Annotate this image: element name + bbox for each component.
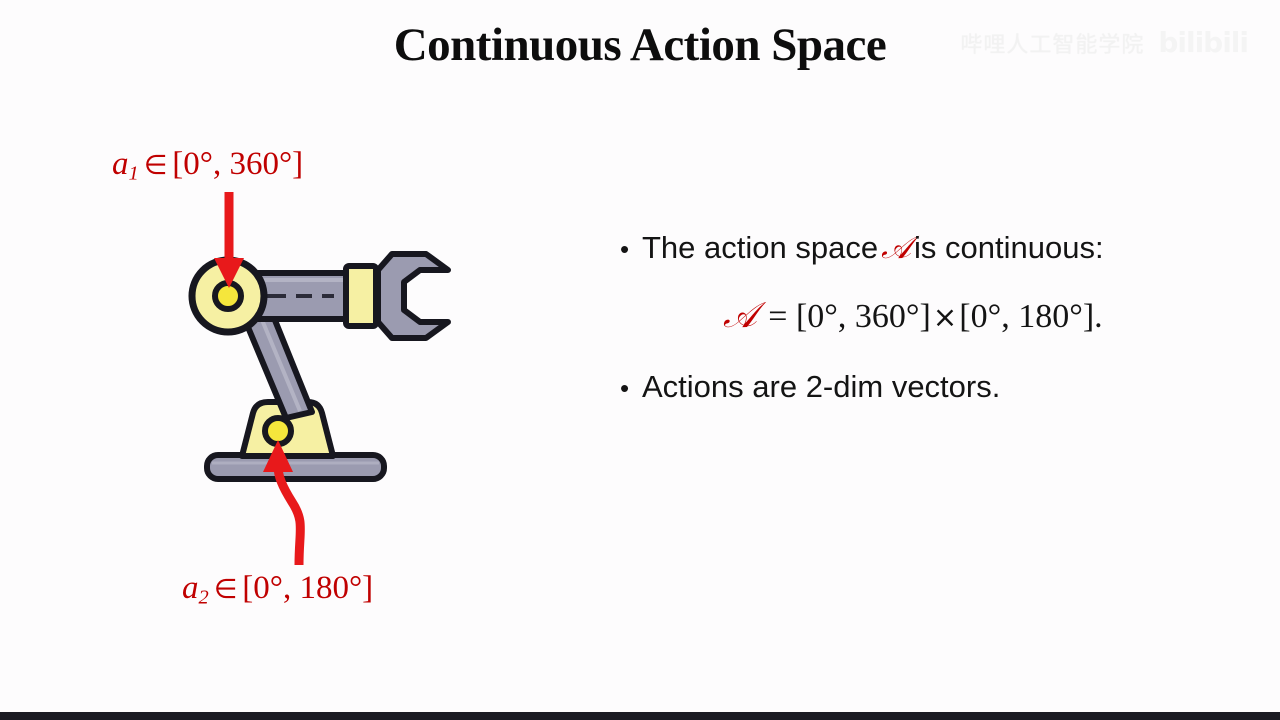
bullet-marker-icon-2: • xyxy=(620,375,642,401)
bullet-1-text: The action space𝒜is continuous: xyxy=(642,228,1104,268)
slide-canvas: Continuous Action Space 哔哩人工智能学院 bilibil… xyxy=(0,0,1280,720)
bullet-1-part-2: is continuous: xyxy=(914,230,1104,265)
bullet-1-part-1: The action space xyxy=(642,230,878,265)
equation-times-symbol: × xyxy=(931,300,960,334)
robot-gripper xyxy=(378,254,448,338)
script-a-symbol: 𝒜 xyxy=(878,230,914,265)
bullet-item-2: • Actions are 2-dim vectors. xyxy=(620,367,1220,407)
content-column: • The action space𝒜is continuous: 𝒜 = [0… xyxy=(620,228,1220,407)
bullet-item-1: • The action space𝒜is continuous: xyxy=(620,228,1220,268)
bullet-marker-icon: • xyxy=(620,236,642,262)
robot-arm-illustration: a1∈[0°, 360°] a2∈[0°, 180°] xyxy=(90,130,570,630)
bullet-2-text: Actions are 2-dim vectors. xyxy=(642,367,1000,407)
equation-interval-1: [0°, 360°] xyxy=(796,298,931,335)
action-space-equation: 𝒜 = [0°, 360°]×[0°, 180°]. xyxy=(620,294,1220,337)
equation-equals: = xyxy=(760,298,796,335)
robot-wrist-collar xyxy=(346,266,376,326)
page-title: Continuous Action Space xyxy=(0,18,1280,72)
equation-script-a-symbol: 𝒜 xyxy=(720,295,760,335)
bottom-bar xyxy=(0,712,1280,720)
equation-interval-2: [0°, 180°]. xyxy=(959,298,1102,335)
robot-arm-graphic xyxy=(90,130,570,630)
